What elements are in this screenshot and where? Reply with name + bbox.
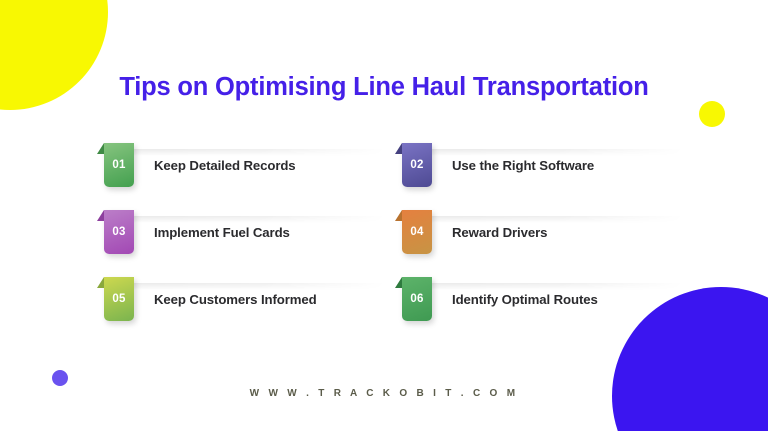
tip-divider-line [114, 283, 386, 290]
footer-website-url: W W W . T R A C K O B I T . C O M [0, 388, 768, 399]
tip-number-badge: 02 [402, 143, 432, 187]
tip-divider-line [114, 149, 386, 156]
decorative-purple-dot [52, 370, 68, 386]
tip-number: 02 [410, 159, 423, 171]
tip-label: Identify Optimal Routes [452, 292, 598, 307]
tip-divider-line [412, 283, 684, 290]
tip-number-badge: 06 [402, 277, 432, 321]
tip-row: 04Reward Drivers [402, 210, 684, 254]
tip-divider-line [412, 216, 684, 223]
tip-number-badge: 01 [104, 143, 134, 187]
tip-label: Keep Customers Informed [154, 292, 317, 307]
tip-number-badge: 04 [402, 210, 432, 254]
tip-label: Use the Right Software [452, 158, 594, 173]
tip-row: 02Use the Right Software [402, 143, 684, 187]
tip-number-badge: 05 [104, 277, 134, 321]
page-title: Tips on Optimising Line Haul Transportat… [0, 73, 768, 102]
tip-number: 06 [410, 293, 423, 305]
badge-folded-corner-icon [395, 143, 402, 154]
tip-row: 01Keep Detailed Records [104, 143, 386, 187]
badge-folded-corner-icon [395, 210, 402, 221]
tip-number: 05 [112, 293, 125, 305]
tips-grid: 01Keep Detailed Records02Use the Right S… [104, 143, 684, 321]
tip-number: 03 [112, 226, 125, 238]
infographic-canvas: Tips on Optimising Line Haul Transportat… [0, 0, 768, 431]
tip-divider-line [412, 149, 684, 156]
badge-folded-corner-icon [97, 143, 104, 154]
tip-divider-line [114, 216, 386, 223]
tip-number-badge: 03 [104, 210, 134, 254]
tip-label: Implement Fuel Cards [154, 225, 290, 240]
badge-folded-corner-icon [97, 210, 104, 221]
tip-label: Reward Drivers [452, 225, 547, 240]
tip-row: 05Keep Customers Informed [104, 277, 386, 321]
tip-number: 04 [410, 226, 423, 238]
decorative-yellow-dot [699, 101, 725, 127]
badge-folded-corner-icon [97, 277, 104, 288]
tip-label: Keep Detailed Records [154, 158, 296, 173]
badge-folded-corner-icon [395, 277, 402, 288]
tip-row: 06Identify Optimal Routes [402, 277, 684, 321]
tip-number: 01 [112, 159, 125, 171]
tip-row: 03Implement Fuel Cards [104, 210, 386, 254]
